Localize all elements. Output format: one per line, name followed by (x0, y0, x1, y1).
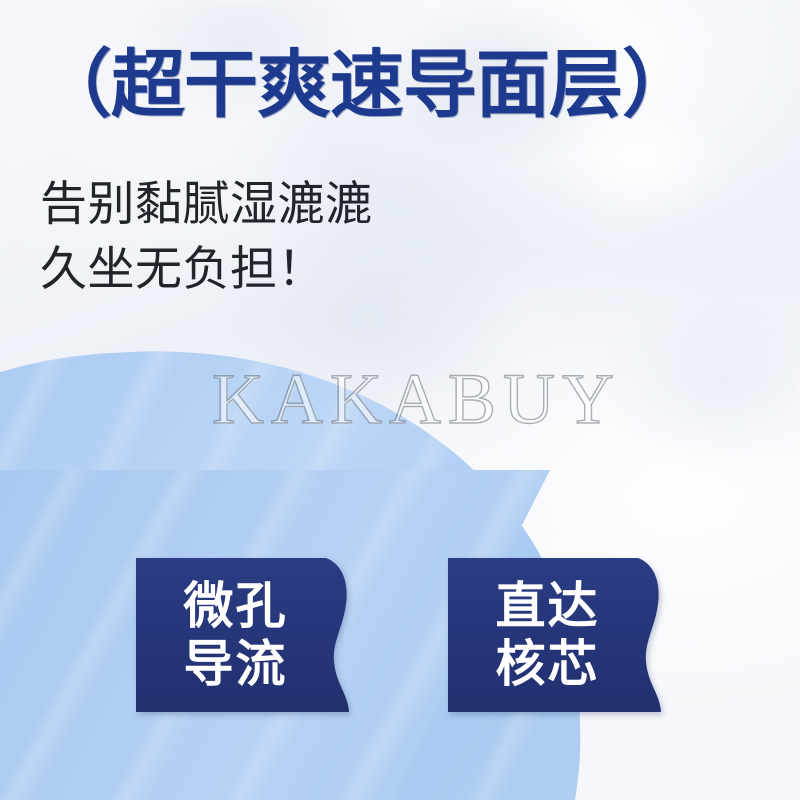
product-poster: （超干爽速导面层） 告别黏腻湿漉漉 久坐无负担！ KAKABUY 微孔 导流 直… (0, 0, 800, 800)
subtitle-block: 告别黏腻湿漉漉 久坐无负担！ (40, 172, 373, 302)
subtitle-line-2: 久坐无负担！ (40, 237, 373, 302)
feature-badge-line-1: 直达 (496, 577, 600, 635)
feature-badge-line-2: 导流 (184, 635, 288, 693)
feature-badge-line-1: 微孔 (184, 577, 288, 635)
feature-badge-line-2: 核芯 (496, 635, 600, 693)
brand-watermark: KAKABUY (212, 358, 621, 441)
feature-badge-micro-pore-drainage: 微孔 导流 (136, 558, 351, 712)
feature-badge-text: 微孔 导流 (184, 577, 304, 693)
page-title: （超干爽速导面层） (38, 48, 695, 122)
feature-badge-direct-to-core: 直达 核芯 (448, 558, 663, 712)
subtitle-line-1: 告别黏腻湿漉漉 (40, 172, 373, 237)
feature-badge-text: 直达 核芯 (496, 577, 616, 693)
